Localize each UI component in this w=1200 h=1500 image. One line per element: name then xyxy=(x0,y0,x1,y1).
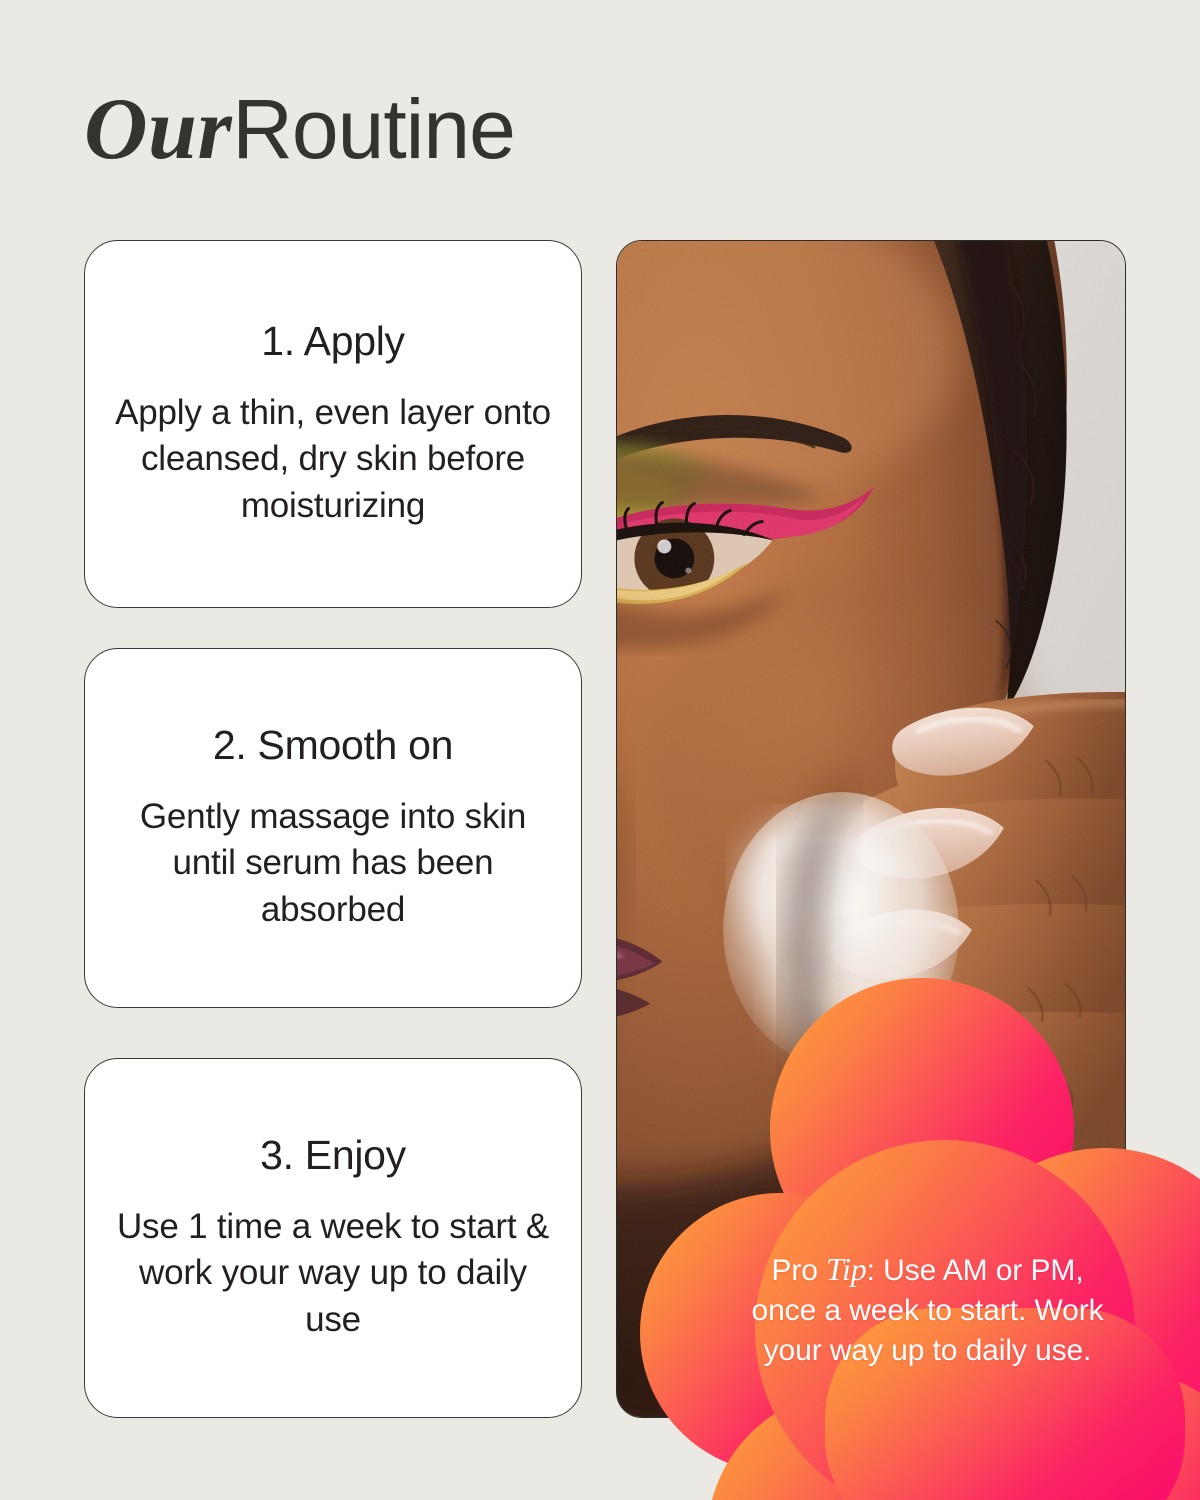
page-title: OurRoutine xyxy=(84,86,515,174)
step-card-title: 2. Smooth on xyxy=(213,723,453,768)
step-card-body: Apply a thin, even layer onto cleansed, … xyxy=(113,390,553,530)
pro-tip-emphasis: Tip xyxy=(826,1251,867,1287)
pro-tip-prefix: Pro xyxy=(771,1254,826,1287)
page-title-main: Routine xyxy=(232,82,515,176)
page-title-prefix: Our xyxy=(84,81,232,178)
step-card-smooth-on: 2. Smooth on Gently massage into skin un… xyxy=(84,648,582,1008)
skincare-photo xyxy=(616,240,1126,1418)
step-card-apply: 1. Apply Apply a thin, even layer onto c… xyxy=(84,240,582,608)
face-skincare-photo-graphic xyxy=(617,241,1125,1417)
step-card-body: Use 1 time a week to start & work your w… xyxy=(113,1204,553,1344)
pro-tip-text: Pro Tip: Use AM or PM, once a week to st… xyxy=(735,1248,1120,1372)
step-card-enjoy: 3. Enjoy Use 1 time a week to start & wo… xyxy=(84,1058,582,1418)
step-card-title: 1. Apply xyxy=(261,319,404,364)
step-card-body: Gently massage into skin until serum has… xyxy=(113,794,553,934)
step-card-title: 3. Enjoy xyxy=(260,1133,406,1178)
routine-infographic: OurRoutine 1. Apply Apply a thin, even l… xyxy=(0,0,1200,1500)
